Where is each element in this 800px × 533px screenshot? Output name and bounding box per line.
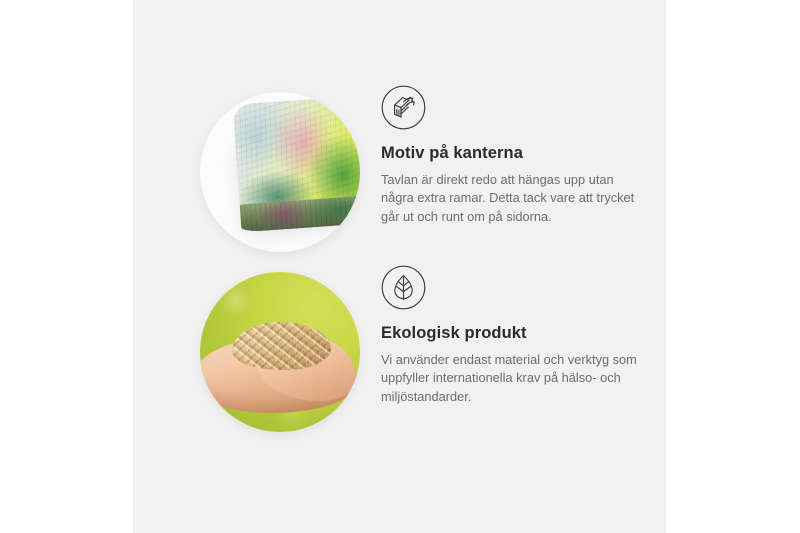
wood-chips (232, 322, 331, 370)
canvas-printed-face (232, 96, 360, 212)
feature-image-eco (200, 272, 360, 432)
feature-image-canvas-corner (200, 92, 360, 252)
hands-holding-wood-chips-photo (200, 272, 360, 432)
leaf-icon (381, 265, 426, 310)
canvas-corner-photo (200, 92, 360, 252)
content-panel: Motiv på kanterna Tavlan är direkt redo … (133, 0, 666, 533)
canvas-block (232, 96, 360, 233)
feature-description: Vi använder endast material och verktyg … (381, 351, 649, 407)
canvas-wrapped-edges-icon (381, 85, 426, 130)
feature-title: Ekologisk produkt (381, 324, 666, 344)
product-features-page: Motiv på kanterna Tavlan är direkt redo … (0, 0, 800, 533)
feature-title: Motiv på kanterna (381, 144, 666, 164)
feature-text-column: Ekologisk produkt Vi använder endast mat… (381, 265, 666, 406)
feature-description: Tavlan är direkt redo att hängas upp uta… (381, 171, 649, 227)
feature-text-column: Motiv på kanterna Tavlan är direkt redo … (381, 85, 666, 226)
